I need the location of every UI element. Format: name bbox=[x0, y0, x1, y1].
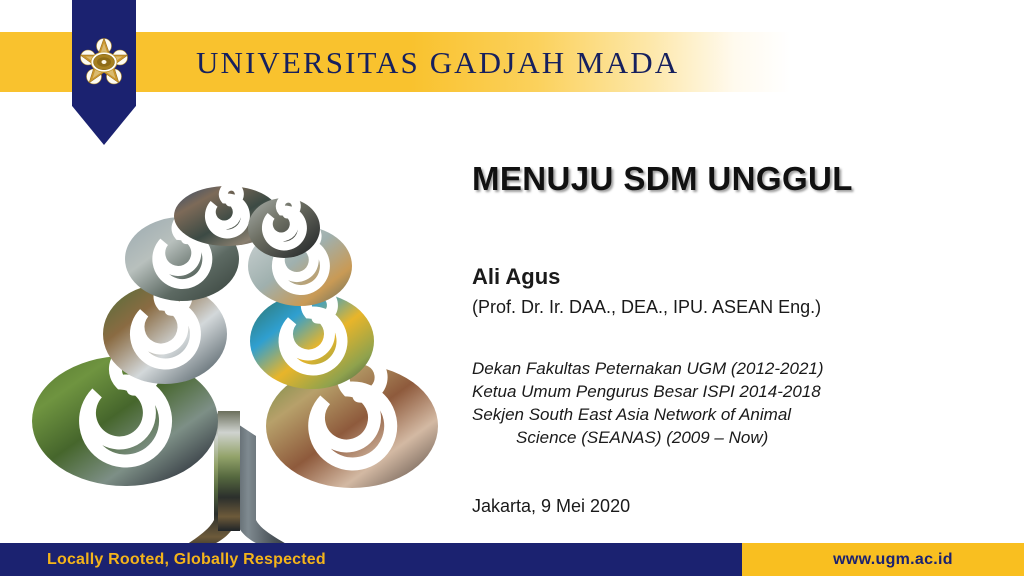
speaker-roles-list: Dekan Fakultas Peternakan UGM (2012-2021… bbox=[472, 357, 932, 449]
slide-header: UNIVERSITAS GADJAH MADA bbox=[0, 0, 1024, 145]
footer-tagline-bar: Locally Rooted, Globally Respected bbox=[0, 543, 742, 576]
footer-tagline: Locally Rooted, Globally Respected bbox=[47, 551, 326, 569]
leaf-cluster-top-right-small bbox=[248, 198, 320, 258]
university-name: UNIVERSITAS GADJAH MADA bbox=[196, 41, 679, 85]
leaf-cluster-mid-right bbox=[250, 292, 374, 389]
role-item: Science (SEANAS) (2009 – Now) bbox=[472, 426, 932, 449]
slide-footer: Locally Rooted, Globally Respected www.u… bbox=[0, 543, 1024, 576]
speaker-credentials: (Prof. Dr. Ir. DAA., DEA., IPU. ASEAN En… bbox=[472, 297, 821, 318]
page-title: MENUJU SDM UNGGUL bbox=[472, 160, 992, 198]
ugm-crest-icon bbox=[79, 36, 129, 88]
role-item: Dekan Fakultas Peternakan UGM (2012-2021… bbox=[472, 357, 932, 380]
footer-website-bar: www.ugm.ac.id bbox=[742, 543, 1024, 576]
presentation-slide: UNIVERSITAS GADJAH MADA bbox=[0, 0, 1024, 576]
photo-collage-tree-icon bbox=[22, 186, 462, 558]
footer-website: www.ugm.ac.id bbox=[813, 551, 953, 569]
role-item: Ketua Umum Pengurus Besar ISPI 2014-2018 bbox=[472, 380, 932, 403]
speaker-name: Ali Agus bbox=[472, 264, 560, 290]
role-item: Sekjen South East Asia Network of Animal bbox=[472, 403, 932, 426]
place-and-date: Jakarta, 9 Mei 2020 bbox=[472, 496, 630, 517]
